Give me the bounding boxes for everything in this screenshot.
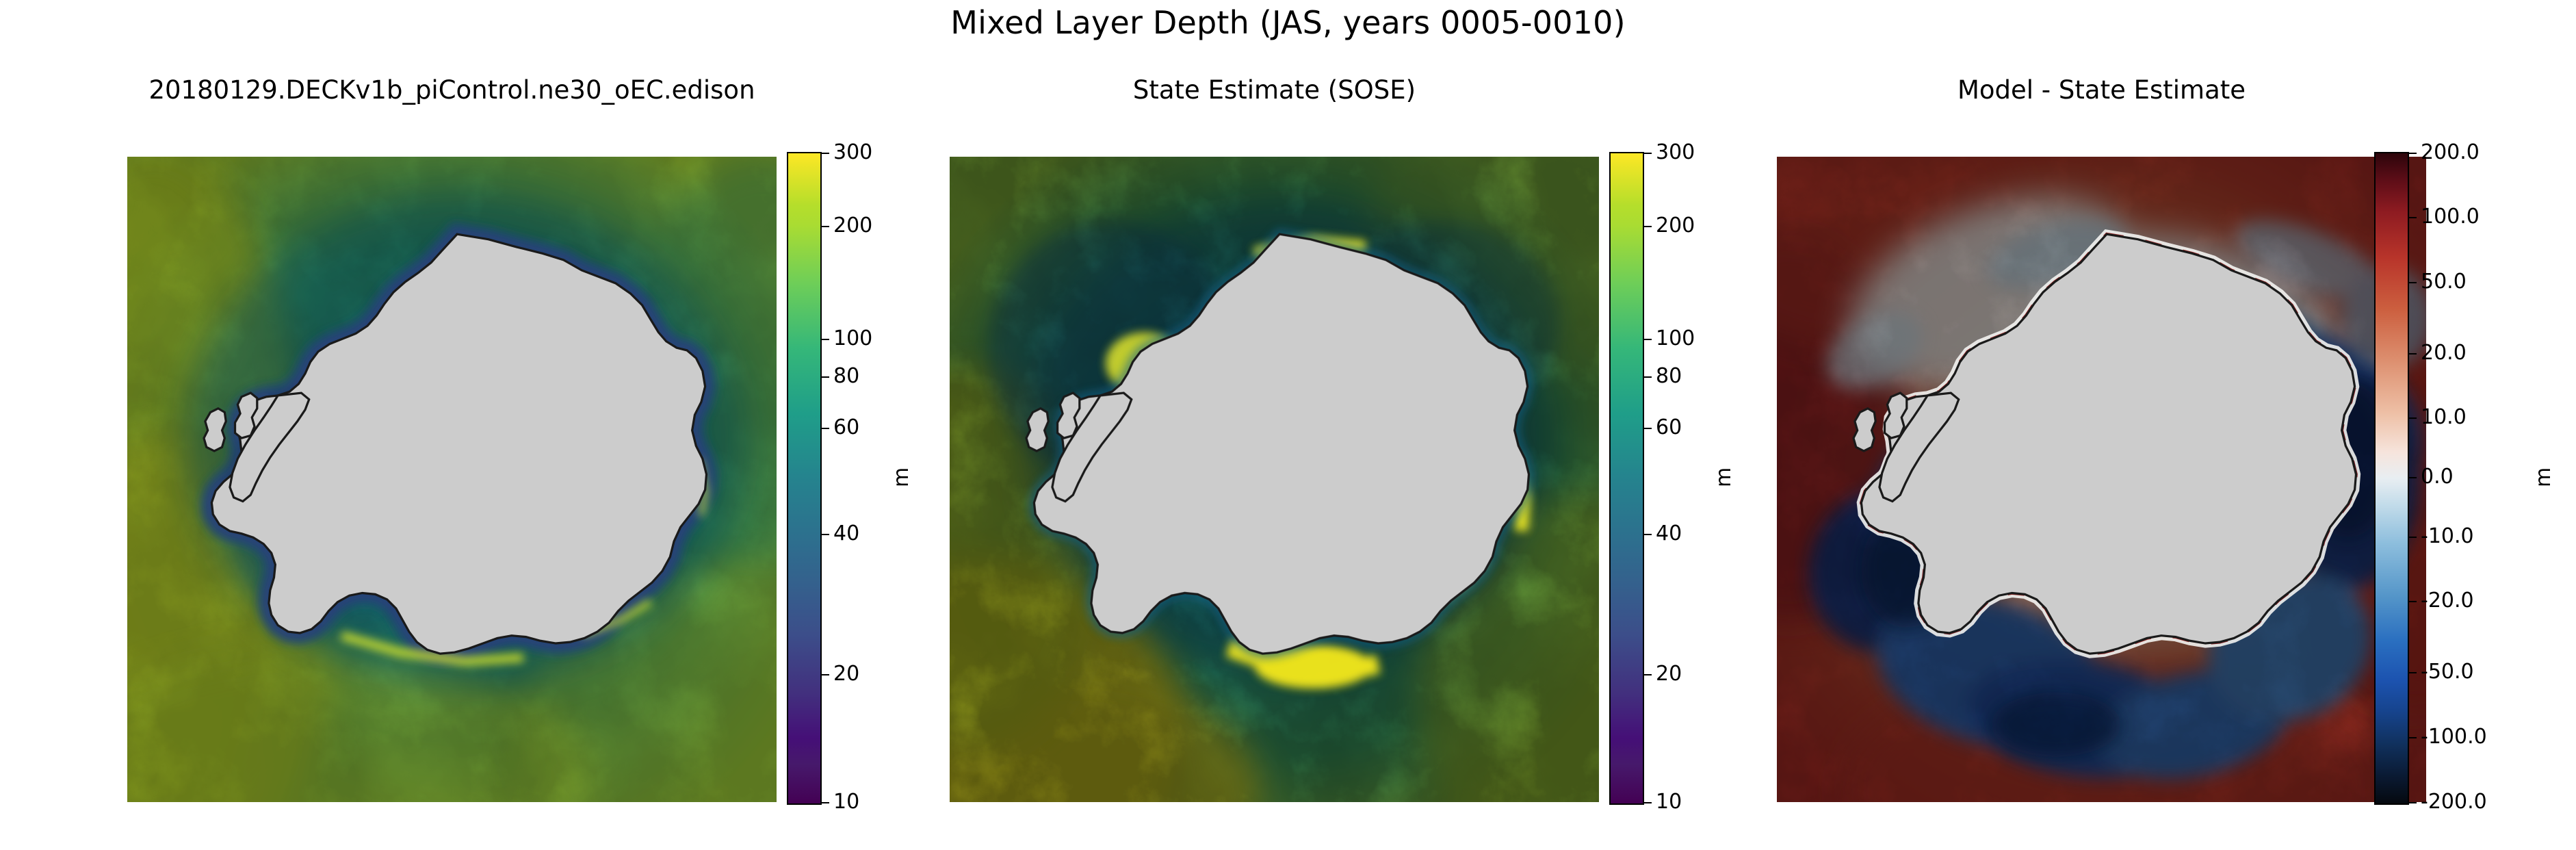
colorbar-unit-sose: m xyxy=(1712,467,1736,487)
colorbar-difference xyxy=(2374,152,2409,805)
colorbar-unit-model: m xyxy=(889,467,913,487)
figure-canvas: Mixed Layer Depth (JAS, years 0005-0010) xyxy=(0,0,2576,850)
map-axes-difference[interactable] xyxy=(1777,157,2426,802)
colorbar-sose xyxy=(1609,152,1644,805)
colorbar-unit-difference: m xyxy=(2532,467,2555,487)
panel-title-model: 20180129.DECKv1b_piControl.ne30_oEC.edis… xyxy=(127,75,777,105)
panel-title-difference: Model - State Estimate xyxy=(1777,75,2426,105)
map-axes-sose[interactable] xyxy=(950,157,1599,802)
figure-suptitle: Mixed Layer Depth (JAS, years 0005-0010) xyxy=(0,4,2576,41)
panel-title-sose: State Estimate (SOSE) xyxy=(950,75,1599,105)
colorbar-model xyxy=(787,152,822,805)
map-axes-model[interactable] xyxy=(127,157,777,802)
